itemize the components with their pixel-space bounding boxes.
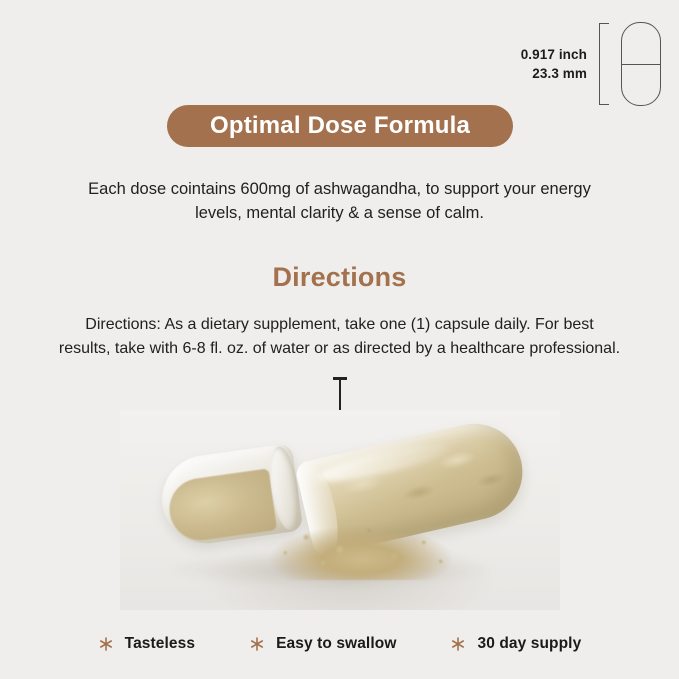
feature-label: Tasteless [125,635,195,653]
size-spec: 0.917 inch 23.3 mm [521,22,661,106]
feature-row: Tasteless Easy to swallow [0,635,679,653]
capsule-split-line [622,64,660,65]
directions-heading: Directions [0,262,679,293]
feature-item: Tasteless [98,635,195,653]
product-info-page: 0.917 inch 23.3 mm Optimal Dose Formula … [0,0,679,679]
powder-crumbs [260,496,470,582]
intro-paragraph: Each dose cointains 600mg of ashwagandha… [0,177,679,226]
feature-item: Easy to swallow [249,635,396,653]
optimal-dose-badge: Optimal Dose Formula [167,105,513,147]
size-inch-value: 0.917 inch [521,48,587,62]
feature-label: 30 day supply [477,635,581,653]
product-photo [120,410,560,610]
pointer-cap [333,377,347,380]
badge-label: Optimal Dose Formula [210,112,470,140]
size-mm-value: 23.3 mm [532,67,587,81]
feature-label: Easy to swallow [276,635,396,653]
asterisk-icon [450,636,466,652]
measurement-bracket-icon [599,23,609,105]
asterisk-icon [98,636,114,652]
directions-body: Directions: As a dietary supplement, tak… [0,313,679,362]
capsule-outline-icon [621,22,661,106]
asterisk-icon [249,636,265,652]
size-spec-text: 0.917 inch 23.3 mm [521,48,587,80]
feature-item: 30 day supply [450,635,581,653]
